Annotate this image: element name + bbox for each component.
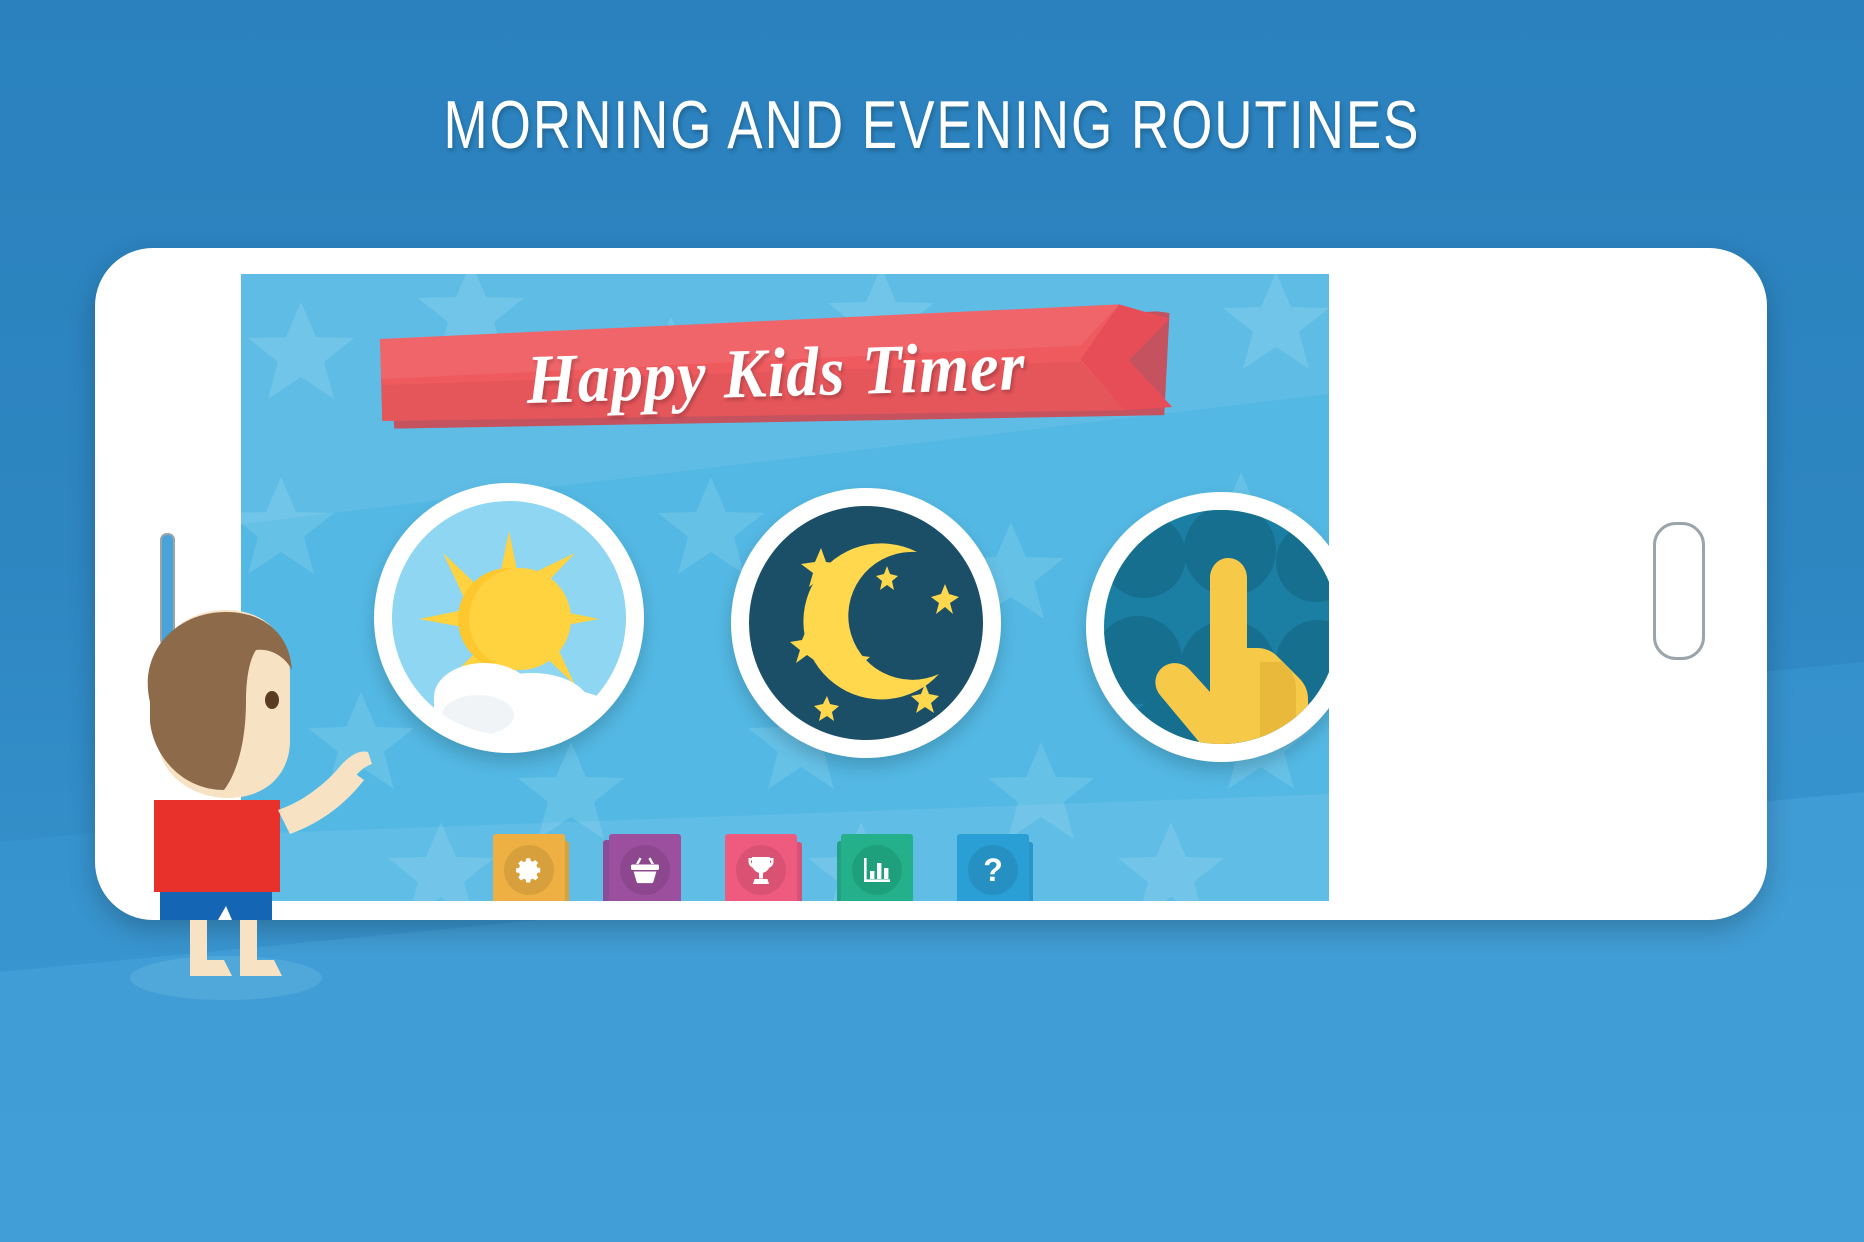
achievements-tile-face (725, 834, 797, 901)
shop-tile-face (609, 834, 681, 901)
help-tile-face: ? (957, 834, 1029, 901)
poster-canvas: MORNING AND EVENING ROUTINES (0, 0, 1864, 1242)
evening-button-face (749, 506, 983, 740)
utility-tile-row: ? (493, 834, 1083, 901)
settings-tile[interactable] (493, 834, 565, 901)
help-tile[interactable]: ? (957, 834, 1029, 901)
app-title-ribbon: Happy Kids Timer (379, 303, 1172, 445)
basket-icon (629, 855, 661, 885)
boy-character (98, 610, 428, 1010)
home-button[interactable] (1653, 522, 1705, 660)
page-title: MORNING AND EVENING ROUTINES (205, 86, 1659, 164)
gear-icon (514, 855, 544, 885)
moon-icon (749, 506, 983, 740)
statistics-tile-face (841, 834, 913, 901)
trophy-icon (746, 854, 776, 886)
achievements-tile[interactable] (725, 834, 797, 901)
statistics-tile[interactable] (841, 834, 913, 901)
settings-tile-face (493, 834, 565, 901)
evening-routine-button[interactable] (731, 488, 1001, 758)
question-icon: ? (983, 854, 1003, 886)
ribbon-shape (379, 303, 1172, 445)
bar-chart-icon (862, 855, 892, 885)
pointing-hand-icon (1104, 510, 1329, 744)
shop-tile[interactable] (609, 834, 681, 901)
practice-button-face (1104, 510, 1329, 744)
